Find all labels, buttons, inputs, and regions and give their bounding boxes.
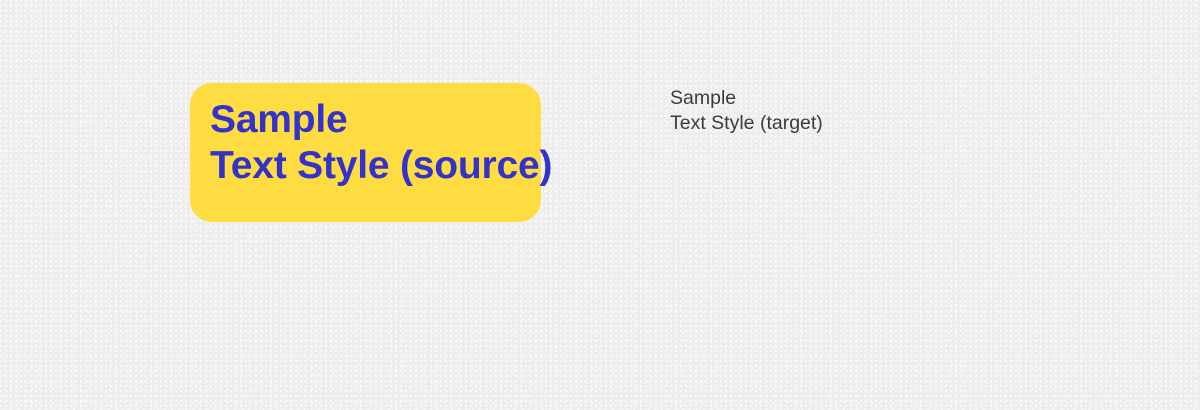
- source-text-line-2: Text Style (source): [210, 143, 525, 189]
- target-text-line-1: Sample: [670, 86, 1090, 111]
- target-style-block[interactable]: Sample Text Style (target): [670, 86, 1090, 136]
- source-text-line-1: Sample: [210, 97, 525, 143]
- source-style-card[interactable]: Sample Text Style (source): [190, 83, 541, 222]
- style-transfer-canvas: Sample Text Style (source) Sample Text S…: [0, 0, 1200, 410]
- background-texture: [0, 0, 1200, 410]
- target-text-line-2: Text Style (target): [670, 111, 1090, 136]
